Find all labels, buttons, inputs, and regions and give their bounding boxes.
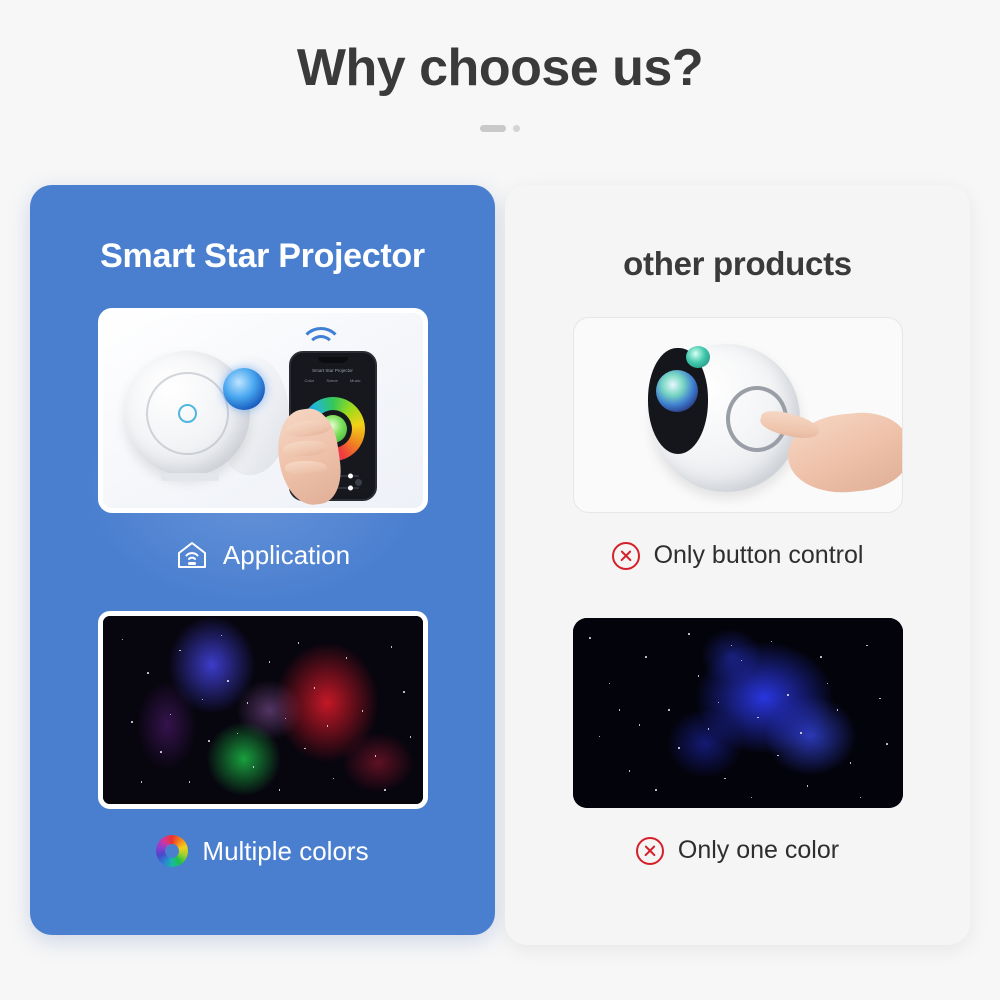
app-title-text: Smart Star Projector [295, 368, 371, 373]
left-feature-2-label: Multiple colors [202, 836, 368, 867]
card-smart-star-projector[interactable]: Smart Star Projector Smart Sta [30, 185, 495, 935]
hand-finger-3 [285, 461, 327, 475]
comparison-page: Why choose us? Smart Star Projector [0, 0, 1000, 1000]
page-title: Why choose us? [0, 40, 1000, 97]
right-feature-2-row: Only one color [505, 836, 970, 865]
color-wheel-icon [156, 835, 188, 867]
star-field-multicolor [103, 616, 423, 804]
card-other-products[interactable]: other products Only button control [505, 185, 970, 945]
comparison-cards: Smart Star Projector Smart Sta [30, 185, 970, 945]
left-feature-2-row: Multiple colors [30, 835, 495, 867]
smart-home-wifi-icon [175, 539, 209, 571]
left-card-heading: Smart Star Projector [30, 237, 495, 276]
red-x-circle-icon [636, 837, 664, 865]
red-x-circle-icon [612, 542, 640, 570]
projector-stand [161, 473, 219, 481]
star-field-blue [573, 618, 903, 808]
projector-lens [223, 368, 265, 410]
pagination-indicator[interactable] [0, 125, 1000, 132]
app-nav-right [355, 479, 362, 486]
page-header: Why choose us? [0, 40, 1000, 132]
projector-power-button [178, 404, 197, 423]
right-product-photo [573, 317, 903, 513]
right-projection-photo [573, 618, 903, 808]
competitor-lens-main [656, 370, 698, 412]
left-product-photo: Smart Star Projector ColorSceneMusic [98, 308, 428, 513]
right-card-heading: other products [505, 245, 970, 283]
left-feature-1-label: Application [223, 540, 350, 571]
right-feature-1-label: Only button control [654, 541, 864, 570]
competitor-lens-small [686, 346, 710, 368]
left-feature-1-row: Application [30, 539, 495, 571]
right-feature-1-row: Only button control [505, 541, 970, 570]
pagination-dot-active[interactable] [480, 125, 506, 132]
left-projection-photo [98, 611, 428, 809]
phone-notch [318, 357, 348, 363]
app-tabs: ColorSceneMusic [305, 378, 361, 383]
right-feature-2-label: Only one color [678, 836, 839, 865]
pagination-dot-2[interactable] [513, 125, 520, 132]
